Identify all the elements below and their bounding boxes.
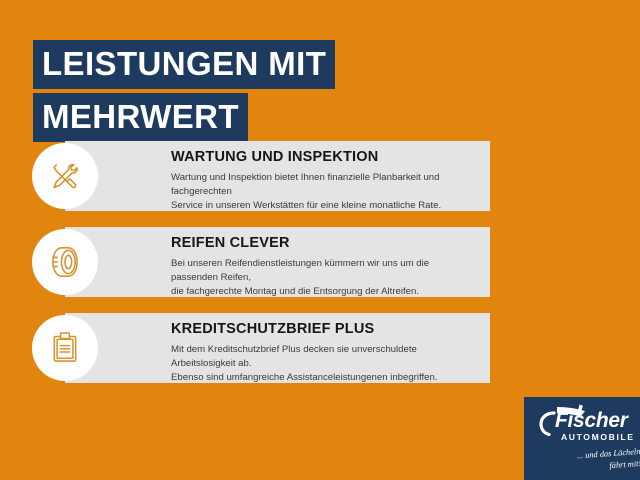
service-card-kreditschutzbrief[interactable]: KREDITSCHUTZBRIEF PLUS Mit dem Kreditsch… — [65, 313, 490, 383]
card-heading: WARTUNG UND INSPEKTION — [171, 150, 474, 166]
card-heading: KREDITSCHUTZBRIEF PLUS — [171, 322, 474, 338]
tire-icon — [32, 229, 98, 295]
card-heading: REIFEN CLEVER — [171, 236, 474, 252]
logo-tagline: ... und das Lächeln fährt mit! — [540, 446, 640, 477]
slide-canvas: LEISTUNGEN MIT MEHRWERT WARTUNG UND INSP… — [0, 0, 640, 480]
list-item[interactable]: WARTUNG UND INSPEKTION Wartung und Inspe… — [0, 141, 640, 211]
service-card-wartung[interactable]: WARTUNG UND INSPEKTION Wartung und Inspe… — [65, 141, 490, 211]
list-item[interactable]: REIFEN CLEVER Bei unseren Reifendienstle… — [0, 227, 640, 297]
page-title-line-2: MEHRWERT — [33, 93, 248, 142]
logo-subtitle: AUTOMOBILE — [561, 433, 635, 442]
card-description: Bei unseren Reifendienstleistungen kümme… — [171, 257, 474, 299]
clipboard-icon — [32, 315, 98, 381]
wrench-screwdriver-icon — [32, 143, 98, 209]
logo-wordmark: Fischer — [555, 410, 628, 431]
card-text-block: WARTUNG UND INSPEKTION Wartung und Inspe… — [171, 150, 474, 213]
service-card-list: WARTUNG UND INSPEKTION Wartung und Inspe… — [0, 141, 640, 399]
service-card-reifen[interactable]: REIFEN CLEVER Bei unseren Reifendienstle… — [65, 227, 490, 297]
card-description: Mit dem Kreditschutzbrief Plus decken si… — [171, 343, 474, 385]
page-title-line-1: LEISTUNGEN MIT — [33, 40, 335, 89]
card-text-block: REIFEN CLEVER Bei unseren Reifendienstle… — [171, 236, 474, 299]
company-logo: Fischer AUTOMOBILE ... und das Lächeln f… — [524, 397, 640, 480]
card-text-block: KREDITSCHUTZBRIEF PLUS Mit dem Kreditsch… — [171, 322, 474, 385]
page-title: LEISTUNGEN MIT MEHRWERT — [33, 40, 335, 142]
card-description: Wartung und Inspektion bietet Ihnen fina… — [171, 171, 474, 213]
list-item[interactable]: KREDITSCHUTZBRIEF PLUS Mit dem Kreditsch… — [0, 313, 640, 383]
